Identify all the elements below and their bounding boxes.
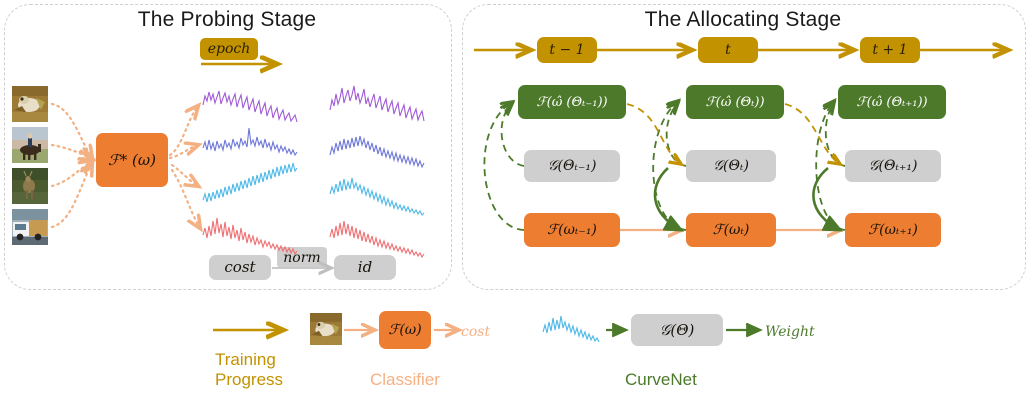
horse-thumbnail: [12, 127, 48, 163]
legend-frog-thumbnail: [310, 313, 342, 345]
legend-curvenet-box: 𝒢(Θ): [631, 314, 723, 346]
probing-stage-title: The Probing Stage: [4, 8, 450, 32]
legend-classifier-label: Classifier: [370, 370, 440, 390]
cost-box: cost: [209, 255, 271, 280]
legend-classifier-output-cost: cost: [461, 322, 490, 342]
legend-curvenet-output-weight: Weight: [765, 322, 815, 342]
green-box-t: ℱ(ω̂ (Θₜ)): [686, 85, 784, 119]
legend-training-progress-line1: Training: [215, 350, 276, 370]
truck-thumbnail: [12, 209, 48, 245]
deer-thumbnail: [12, 168, 48, 204]
legend-classifier-box: ℱ(ω): [379, 311, 431, 349]
gray-box-t-plus-1: 𝒢(Θₜ₊₁): [845, 150, 941, 182]
timeline-box-t: t: [698, 37, 758, 63]
frog-thumbnail: [12, 86, 48, 122]
timeline-box-t-plus-1: t + 1: [860, 37, 920, 63]
epoch-badge: epoch: [200, 38, 258, 60]
probing-classifier-box: ℱ* (ω): [96, 133, 168, 187]
gray-box-t-minus-1: 𝒢(Θₜ₋₁): [524, 150, 620, 182]
orange-box-t: ℱ(ωₜ): [686, 213, 776, 247]
gray-box-t: 𝒢(Θₜ): [686, 150, 776, 182]
orange-box-t-plus-1: ℱ(ωₜ₊₁): [845, 213, 941, 247]
legend-curvenet-curve: [543, 316, 599, 342]
timeline-box-t-minus-1: t − 1: [537, 37, 597, 63]
allocating-stage-title: The Allocating Stage: [462, 8, 1024, 32]
legend-training-progress-line2: Progress: [215, 370, 283, 390]
green-box-t-minus-1: ℱ(ω̂ (Θₜ₋₁)): [518, 85, 626, 119]
orange-box-t-minus-1: ℱ(ωₜ₋₁): [524, 213, 620, 247]
legend-curvenet-label: CurveNet: [625, 370, 697, 390]
green-box-t-plus-1: ℱ(ω̂ (Θₜ₊₁)): [838, 85, 946, 119]
id-box: id: [334, 255, 396, 280]
norm-label-box: norm: [277, 247, 327, 268]
